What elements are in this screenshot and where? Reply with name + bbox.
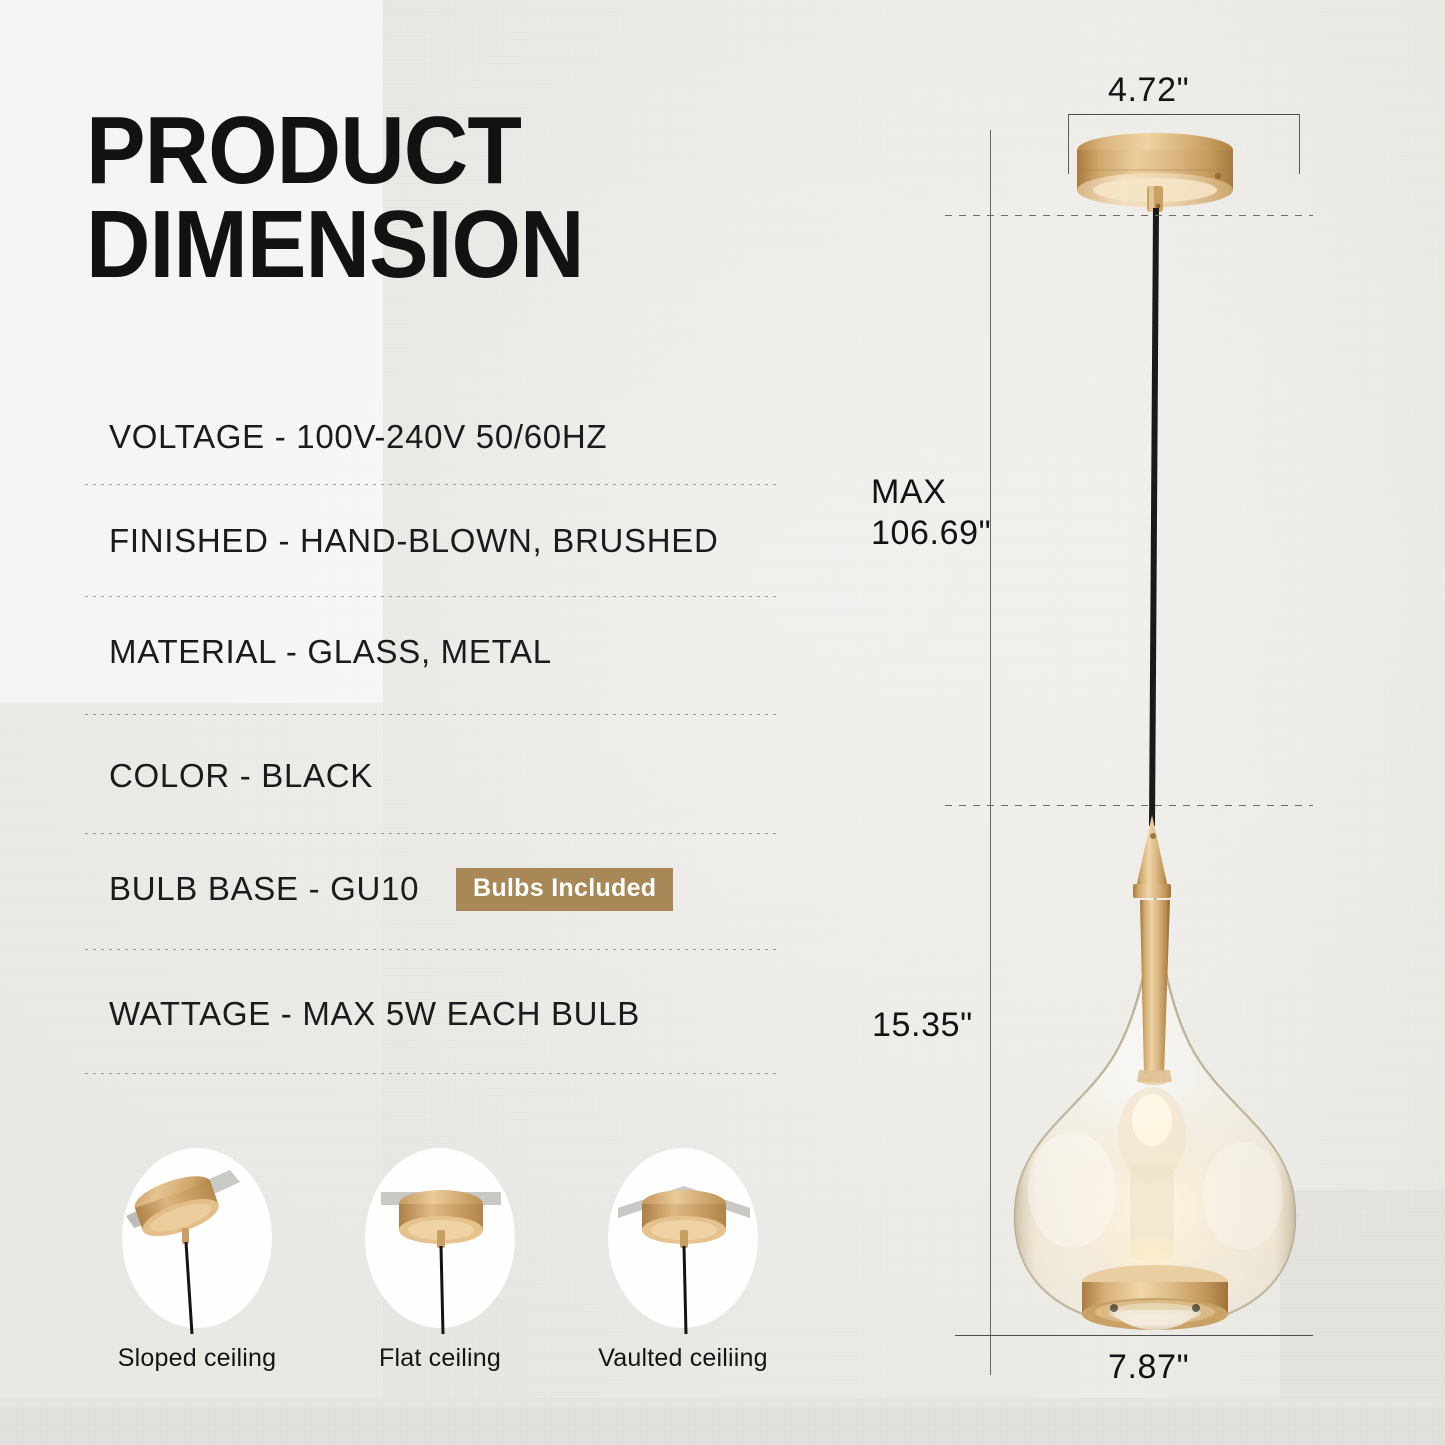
shade-bottom-ring xyxy=(1082,1265,1228,1330)
suspension-cord xyxy=(1152,208,1156,826)
cone-fitter xyxy=(1133,815,1171,898)
infographic-canvas: PRODUCT DIMENSION VOLTAGE - 100V-240V 50… xyxy=(0,0,1445,1445)
pendant-lamp-illustration xyxy=(0,0,1445,1445)
ceiling-canopy xyxy=(1077,133,1233,212)
